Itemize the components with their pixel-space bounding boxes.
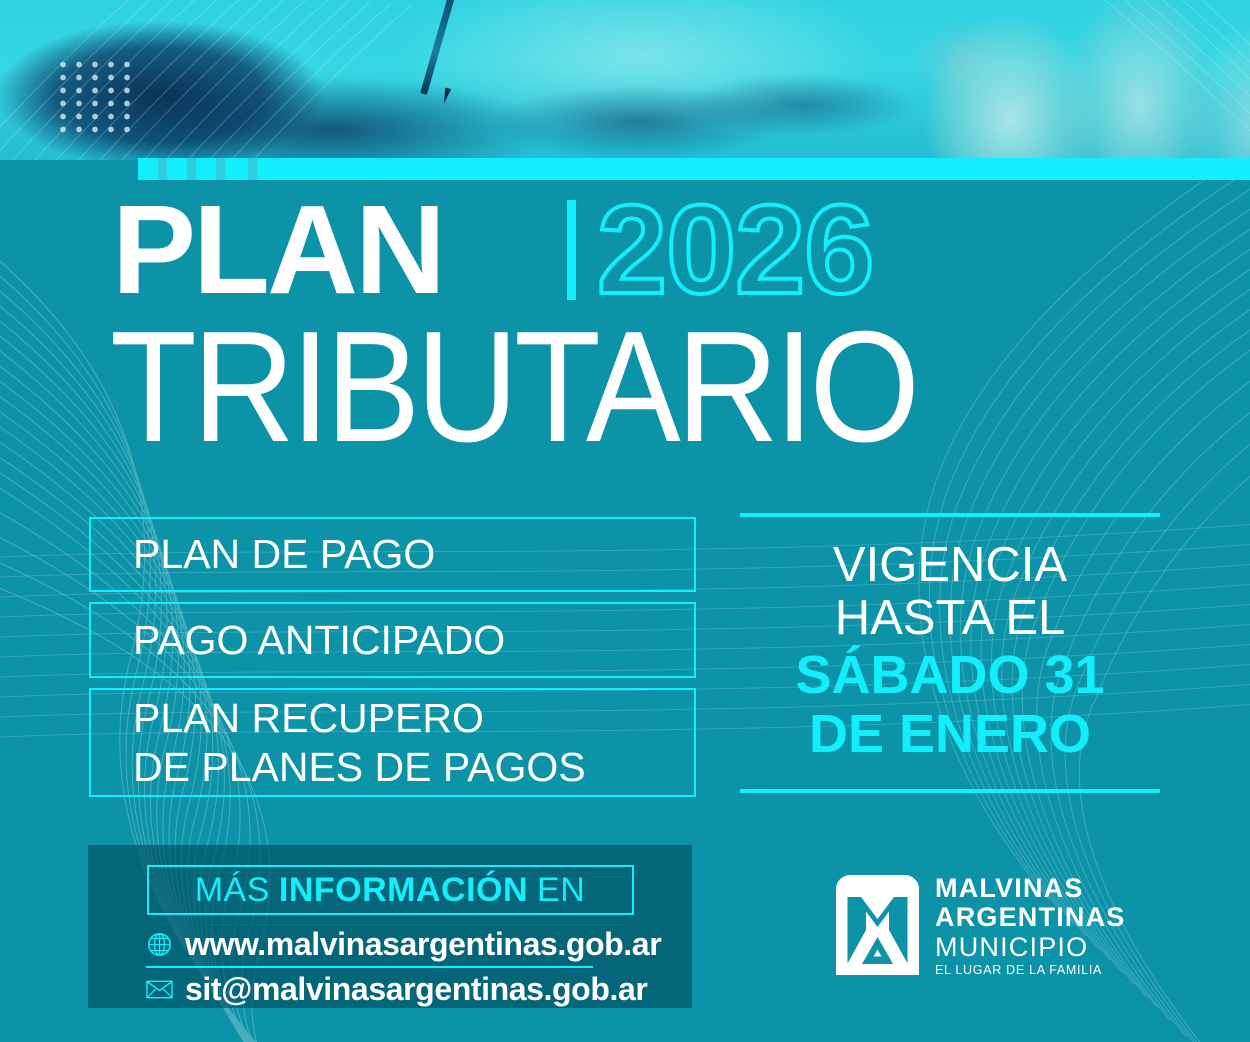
poster-plan-tributario-2026: PLAN 2026 TRIBUTARIO PLAN DE PAGO PAGO A… bbox=[0, 0, 1250, 1042]
logo-line-municipio: MUNICIPIO bbox=[935, 932, 1126, 962]
badge-text-mas: MÁS bbox=[195, 871, 270, 910]
vigencia-rule-bottom bbox=[740, 789, 1160, 793]
logo-tagline: EL LUGAR DE LA FAMILIA bbox=[935, 962, 1126, 978]
option-plan-de-pago[interactable]: PLAN DE PAGO bbox=[89, 517, 696, 592]
contact-divider bbox=[146, 966, 593, 968]
logo-line-argentinas: ARGENTINAS bbox=[935, 903, 1126, 932]
badge-text-informacion: INFORMACIÓN bbox=[279, 871, 528, 910]
title-line-plan-year: PLAN 2026 bbox=[0, 190, 1250, 310]
globe-icon bbox=[146, 931, 173, 958]
accent-bar-gap bbox=[158, 158, 167, 180]
hero-banner bbox=[0, 0, 1250, 160]
page-title-plan: PLAN bbox=[112, 190, 443, 310]
option-label: PAGO ANTICIPADO bbox=[133, 616, 505, 664]
title-block: PLAN 2026 TRIBUTARIO bbox=[0, 190, 1250, 310]
option-label: PLAN RECUPERO DE PLANES DE PAGOS bbox=[133, 694, 586, 791]
mas-informacion-badge: MÁS INFORMACIÓN EN bbox=[147, 865, 634, 915]
option-plan-recupero[interactable]: PLAN RECUPERO DE PLANES DE PAGOS bbox=[89, 688, 696, 797]
accent-bar-gap bbox=[187, 158, 196, 180]
accent-bar-gap bbox=[248, 158, 257, 180]
page-title-year: 2026 bbox=[597, 190, 873, 310]
options-list: PLAN DE PAGO PAGO ANTICIPADO PLAN RECUPE… bbox=[89, 517, 696, 797]
badge-text-en: EN bbox=[537, 871, 585, 910]
website-url: www.malvinasargentinas.gob.ar bbox=[185, 926, 661, 963]
contact-row-email[interactable]: sit@malvinasargentinas.gob.ar bbox=[146, 969, 692, 1010]
dot-grid-pattern bbox=[55, 58, 133, 134]
title-divider bbox=[567, 200, 576, 300]
accent-bar bbox=[138, 158, 1250, 180]
page-title-tributario: TRIBUTARIO bbox=[110, 312, 916, 462]
malvinas-argentinas-shield-icon bbox=[836, 875, 919, 975]
vigencia-date-month: DE ENERO bbox=[740, 706, 1160, 763]
option-label: PLAN DE PAGO bbox=[133, 530, 435, 578]
vigencia-date-day: SÁBADO 31 bbox=[740, 647, 1160, 704]
contact-panel: MÁS INFORMACIÓN EN www.malvinasargentina… bbox=[88, 845, 692, 1008]
vigencia-block: VIGENCIA HASTA EL SÁBADO 31 DE ENERO bbox=[740, 513, 1160, 793]
municipality-logo: MALVINAS ARGENTINAS MUNICIPIO EL LUGAR D… bbox=[836, 872, 1126, 978]
contact-rows: www.malvinasargentinas.gob.ar sit@malvin… bbox=[88, 924, 692, 1010]
logo-wordmark: MALVINAS ARGENTINAS MUNICIPIO EL LUGAR D… bbox=[935, 872, 1126, 978]
vigencia-line-2: HASTA EL bbox=[740, 592, 1160, 645]
accent-bar-gap bbox=[216, 158, 225, 180]
logo-line-malvinas: MALVINAS bbox=[935, 874, 1126, 903]
contact-row-website[interactable]: www.malvinasargentinas.gob.ar bbox=[146, 924, 692, 965]
hero-photo-hand-writing bbox=[0, 0, 1250, 160]
vigencia-content: VIGENCIA HASTA EL SÁBADO 31 DE ENERO bbox=[740, 517, 1160, 777]
email-address: sit@malvinasargentinas.gob.ar bbox=[185, 971, 647, 1008]
envelope-icon bbox=[146, 979, 173, 1000]
option-pago-anticipado[interactable]: PAGO ANTICIPADO bbox=[89, 602, 696, 678]
vigencia-line-1: VIGENCIA bbox=[740, 539, 1160, 592]
